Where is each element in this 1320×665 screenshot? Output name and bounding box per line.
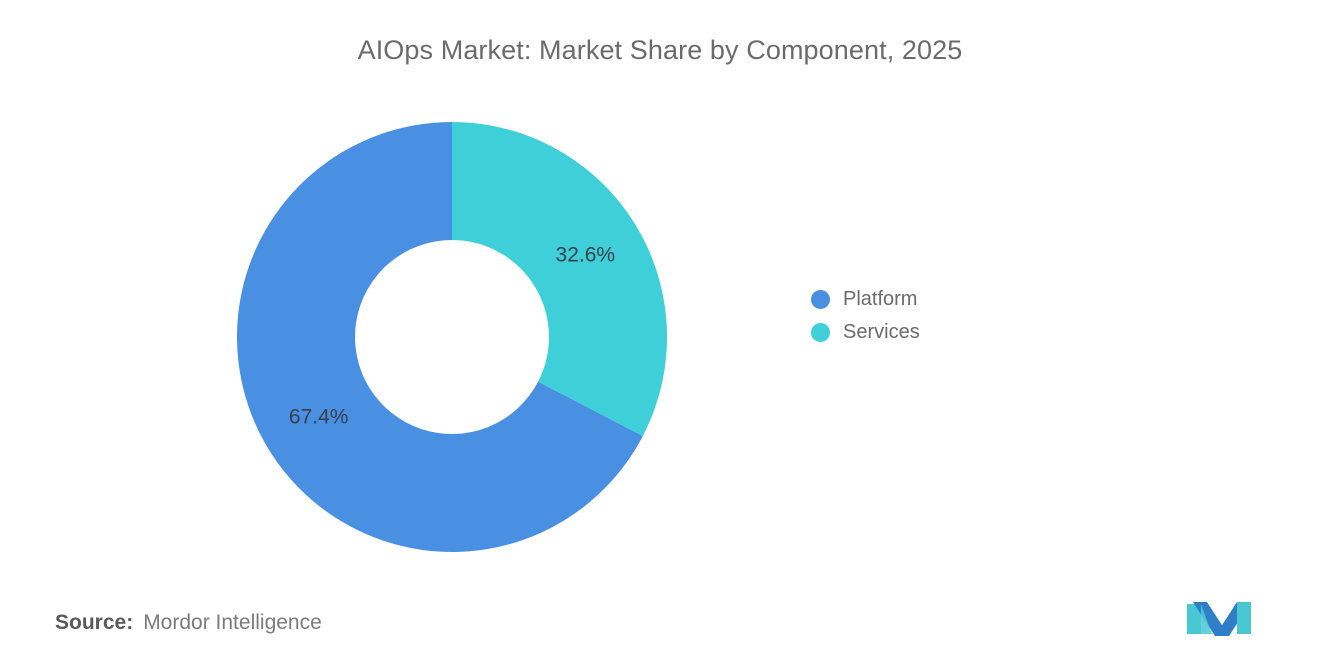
donut-chart-svg: 67.4%32.6% [237, 122, 667, 552]
pie-slice-label-platform: 67.4% [289, 406, 349, 429]
source-label: Source: [55, 611, 133, 635]
donut-chart: 67.4%32.6% [237, 122, 667, 552]
page-title: AIOps Market: Market Share by Component,… [0, 0, 1320, 100]
legend-swatch-services-icon [811, 323, 830, 342]
source-value: Mordor Intelligence [143, 611, 322, 635]
source-attribution: Source: Mordor Intelligence [55, 611, 322, 635]
pie-slice-services[interactable] [452, 122, 667, 436]
pie-slices [237, 122, 667, 552]
mordor-intelligence-logo-svg [1185, 598, 1257, 638]
legend-swatch-platform-icon [811, 290, 830, 309]
legend-label-services: Services [843, 321, 920, 344]
chart-legend: Platform Services [811, 283, 1071, 349]
pie-slice-label-services: 32.6% [556, 244, 616, 267]
legend-item-platform[interactable]: Platform [811, 283, 1071, 316]
legend-label-platform: Platform [843, 288, 917, 311]
mordor-intelligence-logo-icon [1185, 598, 1257, 638]
legend-item-services[interactable]: Services [811, 316, 1071, 349]
